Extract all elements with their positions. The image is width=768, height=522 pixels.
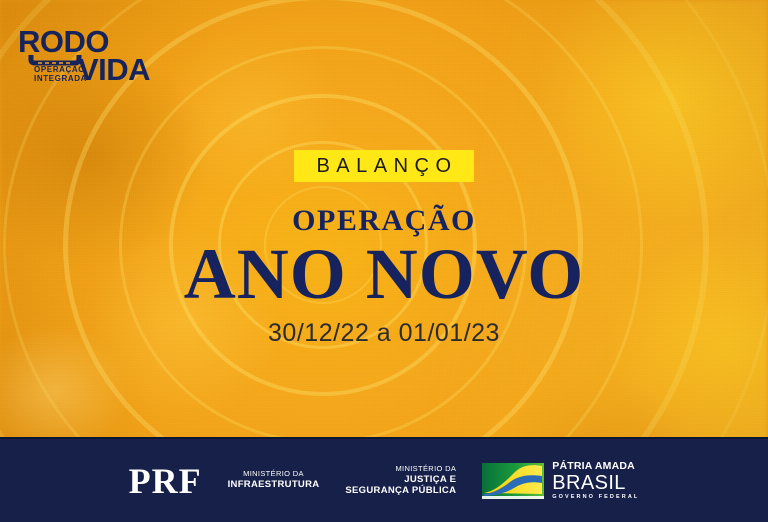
ministry-justice-line2: JUSTIÇA E — [345, 474, 456, 485]
campaign-poster: RODO VIDA OPERAÇÃO INTEGRADA BALANÇO OPE… — [0, 0, 768, 522]
ministry-justice-line1: MINISTÉRIO DA — [345, 465, 456, 474]
logo-tagline-line2: INTEGRADA — [34, 74, 87, 83]
logo-tagline-line1: OPERAÇÃO — [34, 65, 85, 74]
footer-logo-bar: PRF MINISTÉRIO DA INFRAESTRUTURA MINISTÉ… — [0, 437, 768, 522]
operation-prefix: OPERAÇÃO — [0, 206, 768, 236]
ministry-justice-line3: SEGURANÇA PÚBLICA — [345, 485, 456, 496]
operation-name: ANO NOVO — [0, 238, 768, 311]
ministry-infrastructure-logo: MINISTÉRIO DA INFRAESTRUTURA — [228, 470, 320, 490]
ministry-infrastructure-line1: MINISTÉRIO DA — [228, 470, 320, 479]
governo-federal-logo: PÁTRIA AMADA BRASIL GOVERNO FEDERAL — [482, 461, 639, 500]
brasil-line3: GOVERNO FEDERAL — [552, 495, 639, 501]
ministry-justice-logo: MINISTÉRIO DA JUSTIÇA E SEGURANÇA PÚBLIC… — [345, 465, 456, 496]
brasil-line1: PÁTRIA AMADA — [552, 461, 639, 472]
brasil-line2: BRASIL — [552, 473, 639, 493]
prf-logo: PRF — [129, 463, 202, 499]
balanco-badge: BALANÇO — [294, 150, 473, 182]
logo-word-vida: VIDA — [78, 52, 150, 84]
brazil-flag-emblem-icon — [482, 463, 544, 499]
date-range: 30/12/22 a 01/01/23 — [0, 321, 768, 346]
brasil-wordmark: PÁTRIA AMADA BRASIL GOVERNO FEDERAL — [552, 461, 639, 500]
rodovida-logo: RODO VIDA OPERAÇÃO INTEGRADA — [18, 22, 178, 84]
ministry-infrastructure-line2: INFRAESTRUTURA — [228, 479, 320, 490]
headline-block: BALANÇO OPERAÇÃO ANO NOVO 30/12/22 a 01/… — [0, 150, 768, 346]
